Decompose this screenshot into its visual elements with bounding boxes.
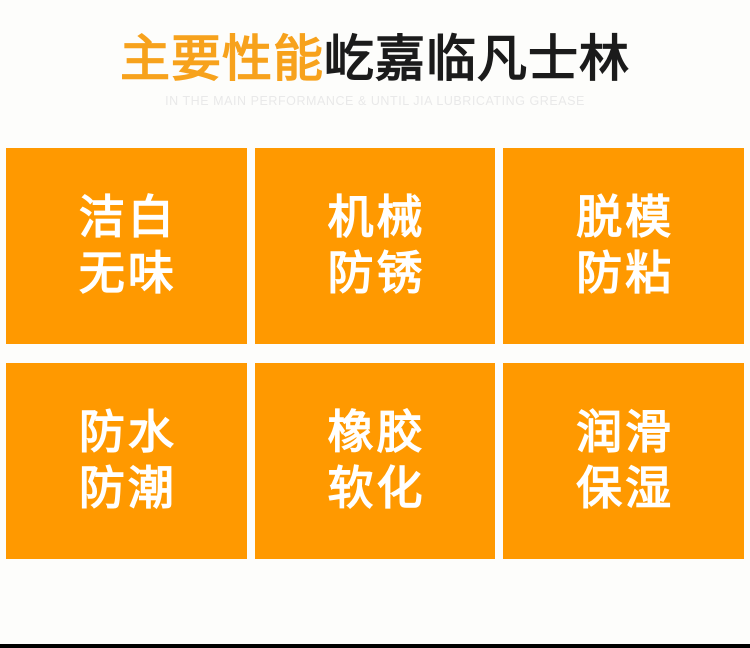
feature-tile-line-2: 保湿 — [573, 461, 674, 517]
feature-tile-fangshui-fangchao: 防水 防潮 — [6, 363, 247, 559]
feature-tile-jixie-fangxiu: 机械 防锈 — [255, 148, 496, 344]
page-subtitle: IN THE MAIN PERFORMANCE & UNTIL JIA LUBR… — [0, 94, 750, 108]
feature-tile-line-2: 无味 — [76, 246, 177, 302]
feature-tile-line-1: 防水 — [76, 405, 177, 461]
feature-tile-line-1: 脱模 — [573, 190, 674, 246]
feature-tile-line-2: 软化 — [324, 461, 425, 517]
feature-tile-line-2: 防潮 — [76, 461, 177, 517]
feature-tile-tuomo-fangzhan: 脱模 防粘 — [503, 148, 744, 344]
page-title-main: 屹嘉临凡士林 — [324, 30, 630, 88]
feature-tile-line-1: 润滑 — [573, 405, 674, 461]
feature-tile-line-1: 橡胶 — [324, 405, 425, 461]
feature-tile-line-2: 防粘 — [573, 246, 674, 302]
feature-tile-line-1: 洁白 — [76, 190, 177, 246]
banner-header: 主要性能屹嘉临凡士林 IN THE MAIN PERFORMANCE & UNT… — [0, 0, 750, 108]
page-title-accent: 主要性能 — [120, 30, 324, 88]
feature-tile-jiebai-wuwei: 洁白 无味 — [6, 148, 247, 344]
page-title: 主要性能屹嘉临凡士林 — [0, 34, 750, 85]
product-feature-banner: 主要性能屹嘉临凡士林 IN THE MAIN PERFORMANCE & UNT… — [0, 0, 750, 648]
feature-grid: 洁白 无味 机械 防锈 脱模 防粘 防水 防潮 橡胶 软化 润滑 保湿 — [6, 148, 744, 559]
feature-tile-runhua-baoshi: 润滑 保湿 — [503, 363, 744, 559]
feature-tile-line-1: 机械 — [324, 190, 425, 246]
feature-tile-line-2: 防锈 — [324, 246, 425, 302]
bottom-divider — [0, 644, 750, 648]
feature-tile-xiangjiao-ruanhua: 橡胶 软化 — [255, 363, 496, 559]
